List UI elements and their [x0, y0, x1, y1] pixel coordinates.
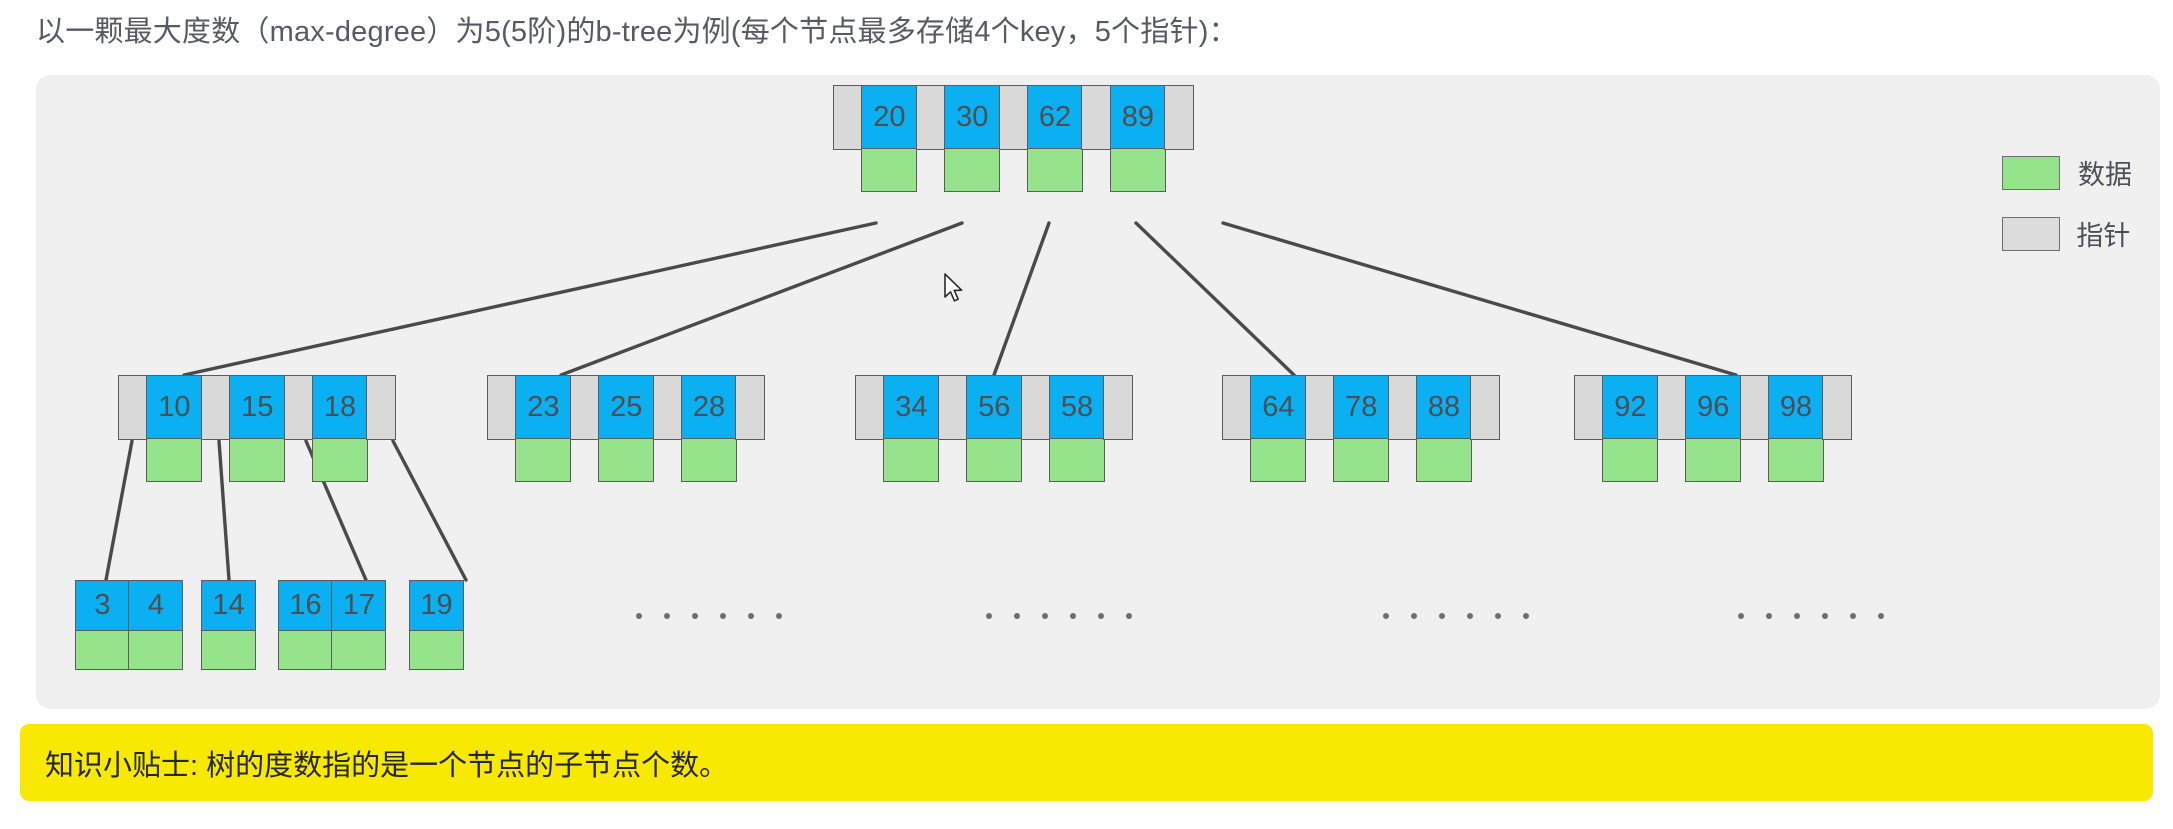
key-cell[interactable]: 20 [861, 85, 917, 150]
tree-edge [1223, 223, 1736, 375]
pointer-box [1222, 375, 1252, 440]
pointer-cell [1470, 375, 1498, 440]
pointer-box [1657, 375, 1687, 440]
ellipsis-dot [1738, 613, 1744, 619]
pointer-cell [1657, 375, 1685, 440]
ellipsis-dot [1383, 613, 1389, 619]
tree-edge [393, 441, 466, 580]
pointer-cell [735, 375, 763, 440]
key-cell[interactable]: 18 [312, 375, 368, 440]
key-column: 98 [1768, 375, 1822, 482]
pointer-box [284, 375, 314, 440]
ellipsis-dot [986, 613, 992, 619]
pointer-box [118, 375, 148, 440]
legend-item-pointer: 指针 [2002, 214, 2132, 253]
key-cell[interactable]: 34 [883, 375, 939, 440]
key-cell[interactable]: 16 [278, 580, 333, 632]
btree-node[interactable]: 345658 [855, 375, 1132, 482]
key-cell[interactable]: 14 [201, 580, 256, 632]
ellipsis-dot [1850, 613, 1856, 619]
data-swatch-icon [2002, 156, 2060, 190]
key-column: 58 [1049, 375, 1103, 482]
key-cell[interactable]: 78 [1333, 375, 1389, 440]
key-column: 34 [883, 375, 937, 482]
key-cell[interactable]: 92 [1602, 375, 1658, 440]
tree-edge [561, 223, 962, 375]
pointer-box [1103, 375, 1133, 440]
key-cell[interactable]: 98 [1768, 375, 1824, 440]
pointer-box [201, 375, 231, 440]
pointer-cell [855, 375, 883, 440]
pointer-box [1740, 375, 1770, 440]
ellipsis-dot [776, 613, 782, 619]
data-cell [128, 630, 183, 670]
key-cell[interactable]: 56 [966, 375, 1022, 440]
pointer-cell [1822, 375, 1850, 440]
pointer-box [1164, 85, 1194, 150]
key-column: 3 [75, 580, 128, 670]
ellipsis-dot [664, 613, 670, 619]
ellipsis-dot [1467, 613, 1473, 619]
data-cell [229, 438, 285, 482]
pointer-cell [487, 375, 515, 440]
mouse-cursor-icon [944, 273, 966, 305]
pointer-box [1388, 375, 1418, 440]
key-column: 64 [1250, 375, 1304, 482]
data-cell [966, 438, 1022, 482]
pointer-box [1574, 375, 1604, 440]
data-cell [1250, 438, 1306, 482]
pointer-cell [653, 375, 681, 440]
key-column: 19 [409, 580, 462, 670]
data-cell [331, 630, 386, 670]
data-cell [1027, 148, 1083, 192]
tree-edge [184, 223, 876, 375]
pointer-box [999, 85, 1029, 150]
key-cell[interactable]: 62 [1027, 85, 1083, 150]
ellipsis-marker [986, 613, 1132, 619]
pointer-cell [916, 85, 944, 150]
key-column: 96 [1685, 375, 1739, 482]
data-cell [1602, 438, 1658, 482]
key-cell[interactable]: 96 [1685, 375, 1741, 440]
key-cell[interactable]: 88 [1416, 375, 1472, 440]
data-cell [201, 630, 256, 670]
data-cell [75, 630, 130, 670]
data-cell [861, 148, 917, 192]
key-column: 20 [861, 85, 915, 192]
data-cell [598, 438, 654, 482]
knowledge-tip-text: 知识小贴士: 树的度数指的是一个节点的子节点个数。 [45, 742, 728, 784]
ellipsis-dot [1070, 613, 1076, 619]
pointer-box [916, 85, 946, 150]
ellipsis-dot [720, 613, 726, 619]
pointer-cell [1305, 375, 1333, 440]
key-cell[interactable]: 89 [1110, 85, 1166, 150]
ellipsis-dot [1126, 613, 1132, 619]
pointer-cell [1103, 375, 1131, 440]
key-cell[interactable]: 15 [229, 375, 285, 440]
ellipsis-dot [1042, 613, 1048, 619]
pointer-box [366, 375, 396, 440]
pointer-box [833, 85, 863, 150]
key-cell[interactable]: 17 [331, 580, 386, 632]
pointer-box [735, 375, 765, 440]
ellipsis-marker [636, 613, 782, 619]
legend: 数据 指针 [2002, 153, 2132, 253]
key-column: 25 [598, 375, 652, 482]
legend-label-pointer: 指针 [2076, 214, 2130, 253]
pointer-box [570, 375, 600, 440]
pointer-cell [938, 375, 966, 440]
data-cell [1416, 438, 1472, 482]
key-column: 4 [128, 580, 181, 670]
btree-node[interactable]: 647888 [1222, 375, 1499, 482]
pointer-cell [1222, 375, 1250, 440]
ellipsis-dot [1411, 613, 1417, 619]
pointer-box [1081, 85, 1111, 150]
page-caption: 以一颗最大度数（max-degree）为5(5阶)的b-tree为例(每个节点最… [36, 8, 2136, 56]
pointer-cell [1021, 375, 1049, 440]
pointer-box [1305, 375, 1335, 440]
key-cell[interactable]: 19 [409, 580, 464, 632]
key-cell[interactable]: 58 [1049, 375, 1105, 440]
btree-node[interactable]: 34 [75, 580, 182, 670]
key-cell[interactable]: 30 [944, 85, 1000, 150]
pointer-box [938, 375, 968, 440]
ellipsis-marker [1383, 613, 1529, 619]
data-cell [1333, 438, 1389, 482]
pointer-cell [833, 85, 861, 150]
legend-item-data: 数据 [2002, 153, 2132, 192]
ellipsis-dot [1495, 613, 1501, 619]
key-column: 15 [229, 375, 283, 482]
key-column: 78 [1333, 375, 1387, 482]
ellipsis-dot [748, 613, 754, 619]
key-column: 18 [312, 375, 366, 482]
btree-node[interactable]: 101518 [118, 375, 395, 482]
tree-edge [1136, 223, 1294, 375]
ellipsis-dot [1766, 613, 1772, 619]
data-cell [409, 630, 464, 670]
pointer-cell [1388, 375, 1416, 440]
pointer-box [1021, 375, 1051, 440]
key-cell[interactable]: 23 [515, 375, 571, 440]
pointer-cell [1164, 85, 1192, 150]
pointer-swatch-icon [2002, 217, 2060, 251]
ellipsis-dot [1439, 613, 1445, 619]
pointer-cell [118, 375, 146, 440]
ellipsis-dot [1794, 613, 1800, 619]
key-column: 89 [1110, 85, 1164, 192]
data-cell [944, 148, 1000, 192]
ellipsis-dot [1878, 613, 1884, 619]
key-column: 56 [966, 375, 1020, 482]
btree-diagram-panel: 2030628910151823252834565864788892969834… [36, 75, 2160, 709]
btree-node[interactable]: 14 [201, 580, 254, 670]
key-column: 16 [278, 580, 331, 670]
data-cell [1685, 438, 1741, 482]
knowledge-tip-bar: 知识小贴士: 树的度数指的是一个节点的子节点个数。 [20, 724, 2153, 801]
btree-node[interactable]: 232528 [487, 375, 764, 482]
pointer-box [487, 375, 517, 440]
btree-node[interactable]: 19 [409, 580, 462, 670]
key-cell[interactable]: 10 [146, 375, 202, 440]
data-cell [883, 438, 939, 482]
ellipsis-dot [1822, 613, 1828, 619]
key-column: 88 [1416, 375, 1470, 482]
key-cell[interactable]: 25 [598, 375, 654, 440]
ellipsis-dot [636, 613, 642, 619]
pointer-cell [366, 375, 394, 440]
pointer-cell [999, 85, 1027, 150]
key-column: 14 [201, 580, 254, 670]
key-cell[interactable]: 3 [75, 580, 130, 632]
key-column: 92 [1602, 375, 1656, 482]
btree-node[interactable]: 20306289 [833, 85, 1193, 192]
ellipsis-marker [1738, 613, 1884, 619]
pointer-box [1470, 375, 1500, 440]
pointer-cell [1574, 375, 1602, 440]
data-cell [278, 630, 333, 670]
pointer-cell [1081, 85, 1109, 150]
ellipsis-dot [692, 613, 698, 619]
key-column: 62 [1027, 85, 1081, 192]
data-cell [515, 438, 571, 482]
pointer-cell [201, 375, 229, 440]
data-cell [312, 438, 368, 482]
key-column: 30 [944, 85, 998, 192]
tree-edge [994, 223, 1049, 375]
pointer-box [1822, 375, 1852, 440]
data-cell [1768, 438, 1824, 482]
key-column: 28 [681, 375, 735, 482]
key-cell[interactable]: 64 [1250, 375, 1306, 440]
ellipsis-dot [1014, 613, 1020, 619]
key-cell[interactable]: 4 [128, 580, 183, 632]
data-cell [146, 438, 202, 482]
key-column: 10 [146, 375, 200, 482]
btree-node[interactable]: 929698 [1574, 375, 1851, 482]
ellipsis-dot [1523, 613, 1529, 619]
data-cell [681, 438, 737, 482]
key-column: 17 [331, 580, 384, 670]
ellipsis-dot [1098, 613, 1104, 619]
legend-label-data: 数据 [2078, 153, 2132, 192]
data-cell [1110, 148, 1166, 192]
pointer-cell [1740, 375, 1768, 440]
data-cell [1049, 438, 1105, 482]
key-column: 23 [515, 375, 569, 482]
pointer-box [855, 375, 885, 440]
btree-node[interactable]: 1617 [278, 580, 385, 670]
pointer-cell [284, 375, 312, 440]
pointer-cell [570, 375, 598, 440]
key-cell[interactable]: 28 [681, 375, 737, 440]
pointer-box [653, 375, 683, 440]
